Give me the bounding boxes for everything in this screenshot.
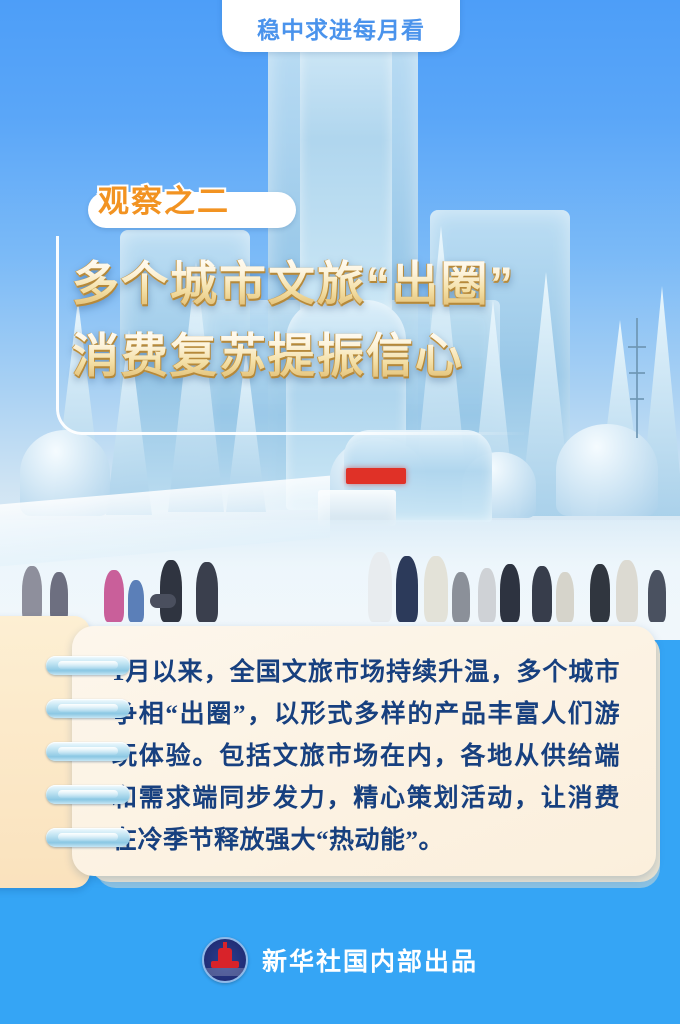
tourist: [424, 556, 448, 622]
spiral-ring: [46, 785, 130, 804]
tourist: [478, 568, 496, 622]
body-card: 1月以来，全国文旅市场持续升温，多个城市争相“出圈”，以形式多样的产品丰富人们游…: [72, 626, 656, 876]
tourist: [368, 552, 392, 622]
top-badge-label: 稳中求进每月看: [257, 11, 425, 45]
xinhua-logo-icon: [202, 937, 248, 983]
antenna-mast: [636, 318, 638, 438]
tourist: [556, 572, 574, 622]
tourist: [532, 566, 552, 622]
ice-dome-right: [556, 424, 658, 516]
tourist: [50, 572, 68, 622]
xinhua-logo-emblem: [218, 948, 232, 968]
spiral-ring: [46, 828, 130, 847]
tourist: [150, 594, 176, 608]
page-title-line1: 多个城市文旅“出圈”: [72, 248, 515, 320]
footer: 新华社国内部出品: [0, 928, 680, 992]
tourist: [500, 564, 520, 622]
tourist: [396, 556, 418, 622]
tourist: [104, 570, 124, 622]
spiral-ring: [46, 656, 130, 675]
tourist: [616, 560, 638, 622]
section-label: 观察之二: [78, 176, 230, 221]
top-badge[interactable]: 稳中求进每月看: [222, 0, 460, 52]
spiral-ring: [46, 699, 130, 718]
antenna-arm-1: [628, 346, 646, 348]
poster-root: 稳中求进每月看 观察之二 多个城市文旅“出圈” 消费复苏提振信心 1月以来，全国…: [0, 0, 680, 1024]
tourist: [196, 562, 218, 622]
tourist: [590, 564, 610, 622]
body-paragraph: 1月以来，全国文旅市场持续升温，多个城市争相“出圈”，以形式多样的产品丰富人们游…: [112, 652, 620, 862]
footer-publisher: 新华社国内部出品: [262, 942, 478, 978]
page-title-line2: 消费复苏提振信心: [72, 320, 515, 392]
notebook-spiral-rings: [46, 656, 136, 878]
ice-park-sign: [346, 468, 406, 484]
antenna-arm-3: [630, 398, 644, 400]
tourist: [160, 560, 182, 622]
xinhua-logo-band: [204, 968, 246, 976]
antenna-arm-2: [629, 372, 645, 374]
spiral-ring: [46, 742, 130, 761]
tourist: [128, 580, 144, 622]
tourist: [22, 566, 42, 622]
page-title: 多个城市文旅“出圈” 消费复苏提振信心: [72, 248, 515, 392]
tourist: [648, 570, 666, 622]
tourist: [452, 572, 470, 622]
section-label-text: 观察之二: [78, 176, 230, 221]
